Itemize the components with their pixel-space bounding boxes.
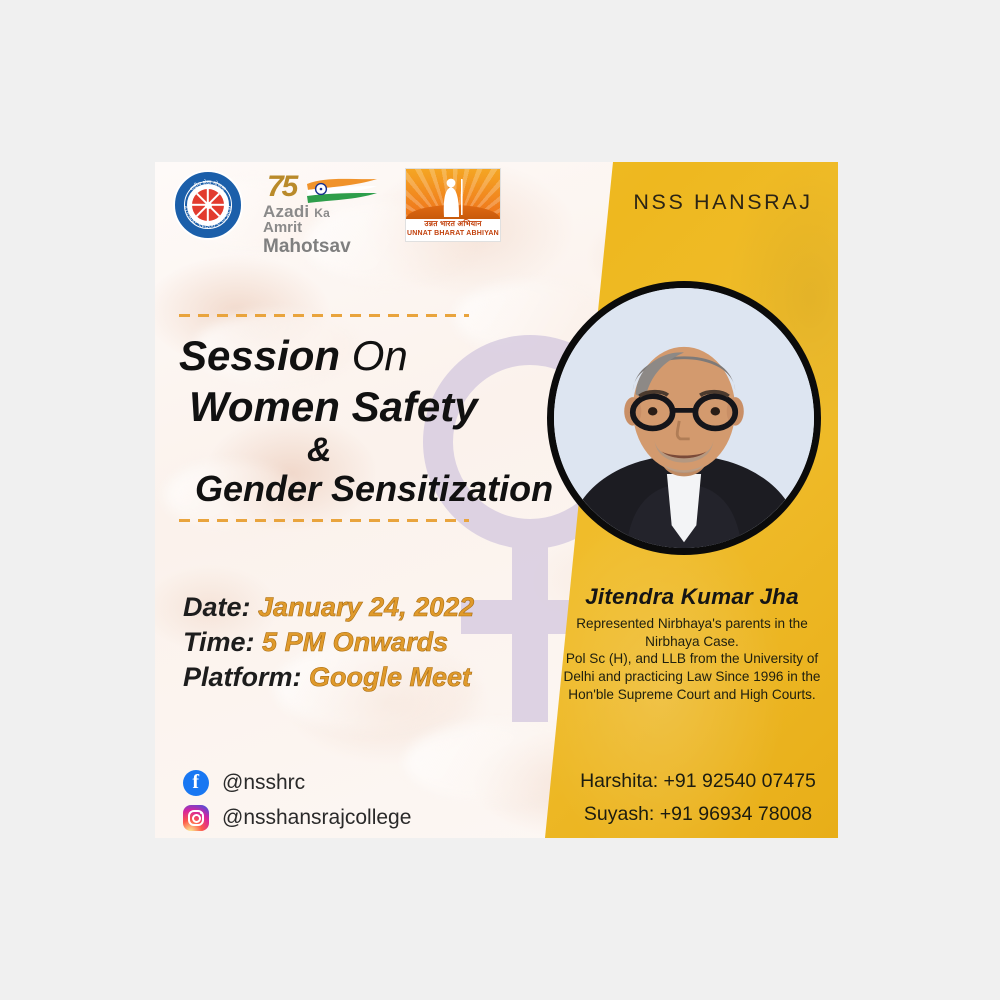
brand-title: NSS HANSRAJ [623,190,823,215]
svg-text:NATIONAL SERVICE SCHEME: NATIONAL SERVICE SCHEME [173,170,234,231]
gandhi-figure-icon [440,177,466,217]
azadi-line2: Amrit [263,219,302,236]
event-poster: राष्ट्रीय सेवा योजना NATIONAL SERVICE SC… [155,162,838,838]
azadi-ka: Ka [314,206,330,220]
headline-session: Session [179,332,340,379]
headline-block: Session On Women Safety & Gender Sensiti… [171,314,591,522]
contact-suyash: Suyash: +91 96934 78008 [553,803,838,826]
headline-women-safety: Women Safety [171,384,591,429]
headline-on: On [352,332,408,379]
social-instagram[interactable]: @nsshansrajcollege [183,805,411,831]
dashed-divider-bottom [179,519,469,522]
headline-ampersand: & [171,432,591,469]
detail-time-value: 5 PM Onwards [262,627,448,657]
facebook-handle: @nsshrc [222,771,305,795]
unnat-bharat-abhiyan-logo: उन्नत भारत अभियान UNNAT BHARAT ABHIYAN [405,168,501,242]
azadi-ka-amrit-mahotsav-logo: 75 Azadi Ka Amrit Mahotsav [261,168,387,242]
speaker-portrait-photo [547,281,821,555]
contact-list: Harshita: +91 92540 07475 Suyash: +91 96… [553,770,838,836]
facebook-icon [183,770,209,796]
detail-platform-label: Platform: [183,662,302,692]
detail-date-value: January 24, 2022 [258,592,474,622]
uba-english-text: UNNAT BHARAT ABHIYAN [406,229,500,238]
screenshot-canvas: राष्ट्रीय सेवा योजना NATIONAL SERVICE SC… [0,0,1000,1000]
detail-date-label: Date: [183,592,251,622]
speaker-bio-line-2: Nirbhaya Case. [553,633,831,651]
speaker-bio-line-1: Represented Nirbhaya's parents in the [553,615,831,633]
instagram-handle: @nsshansrajcollege [222,806,411,830]
detail-platform: Platform: Google Meet [183,660,474,695]
speaker-name: Jitendra Kumar Jha [553,584,831,610]
tricolour-flag-icon [305,178,379,204]
logo-row: राष्ट्रीय सेवा योजना NATIONAL SERVICE SC… [173,168,501,242]
azadi-75-mark: 75 [267,170,296,204]
nss-emblem-icon: राष्ट्रीय सेवा योजना NATIONAL SERVICE SC… [173,170,243,240]
instagram-icon [183,805,209,831]
speaker-bio-line-5: Hon'ble Supreme Court and High Courts. [553,686,831,704]
detail-date: Date: January 24, 2022 [183,590,474,625]
detail-time: Time: 5 PM Onwards [183,625,474,660]
speaker-info: Jitendra Kumar Jha Represented Nirbhaya'… [553,584,831,703]
event-details: Date: January 24, 2022 Time: 5 PM Onward… [183,590,474,695]
social-facebook[interactable]: @nsshrc [183,770,411,796]
social-links: @nsshrc @nsshansrajcollege [183,770,411,838]
speaker-bio-line-4: Delhi and practicing Law Since 1996 in t… [553,668,831,686]
headline-gender-sensitization: Gender Sensitization [171,470,591,509]
svg-text:राष्ट्रीय सेवा योजना: राष्ट्रीय सेवा योजना [189,179,226,193]
contact-harshita: Harshita: +91 92540 07475 [553,770,838,793]
uba-hindi-text: उन्नत भारत अभियान [406,219,500,229]
detail-platform-value: Google Meet [309,662,471,692]
azadi-line3: Mahotsav [263,236,351,257]
speaker-bio-line-3: Pol Sc (H), and LLB from the University … [553,650,831,668]
detail-time-label: Time: [183,627,255,657]
